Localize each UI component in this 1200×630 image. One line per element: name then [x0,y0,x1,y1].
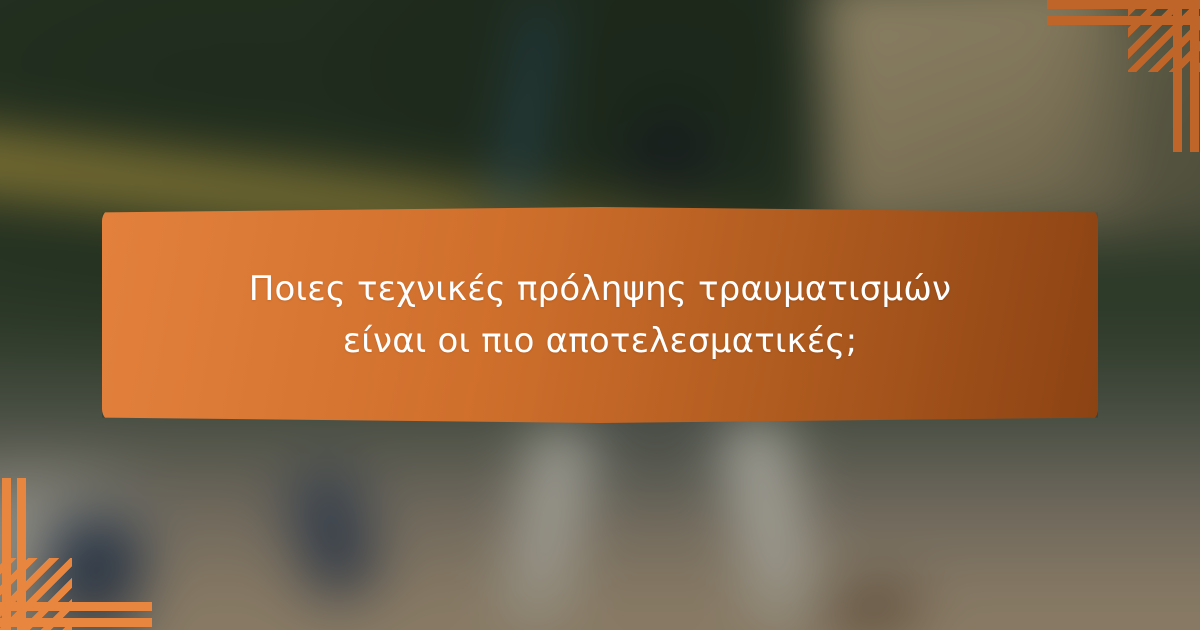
question-banner: Ποιες τεχνικές πρόληψης τραυματισμών είν… [102,207,1098,423]
question-text: Ποιες τεχνικές πρόληψης τραυματισμών είν… [209,263,991,367]
diagonal-hatch-icon [1128,0,1200,72]
corner-bracket-bottom-left [0,470,160,630]
corner-bracket-top-right [1040,0,1200,160]
diagonal-hatch-icon [0,558,72,630]
social-question-card: Ποιες τεχνικές πρόληψης τραυματισμών είν… [0,0,1200,630]
